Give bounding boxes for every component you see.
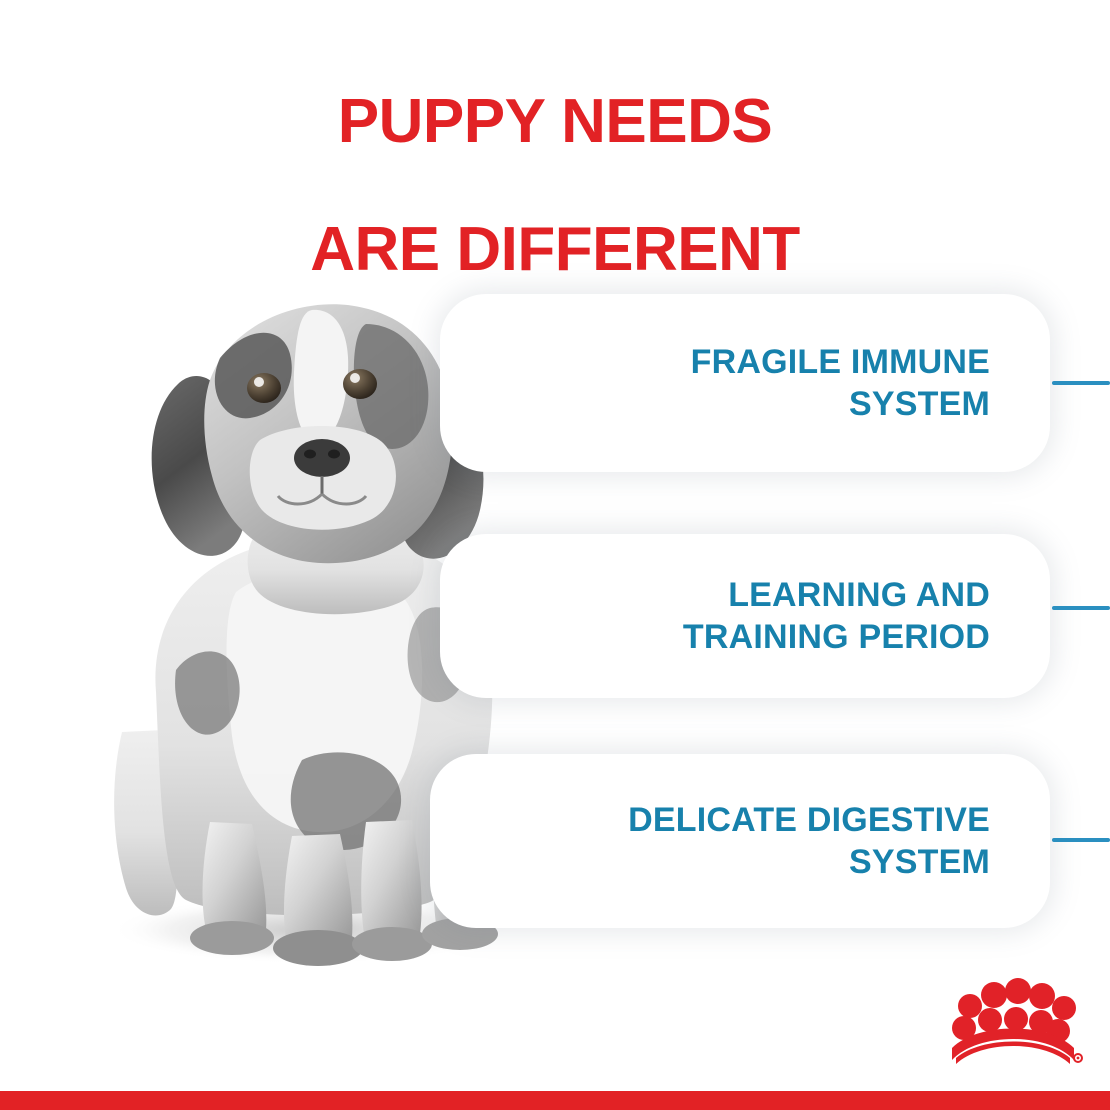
benefit-label-2: LEARNING AND TRAINING PERIOD	[683, 574, 1050, 659]
crown-dot	[981, 982, 1007, 1008]
crown-dot	[1052, 996, 1076, 1020]
puppy-eye-left	[247, 373, 281, 403]
puppy-eye-right	[343, 369, 377, 399]
puppy-nose	[294, 439, 350, 477]
benefit-label-3: DELICATE DIGESTIVE SYSTEM	[628, 799, 1050, 884]
title-line-1: PUPPY NEEDS	[0, 90, 1110, 154]
poster-canvas: PUPPY NEEDS ARE DIFFERENT	[0, 0, 1110, 1110]
benefit-card-3[interactable]: DELICATE DIGESTIVE SYSTEM	[430, 754, 1050, 928]
crown-dot	[1029, 983, 1055, 1009]
royal-canin-crown-logo	[938, 974, 1088, 1074]
crown-dot	[978, 1008, 1002, 1032]
crown-dot	[958, 994, 982, 1018]
connector-line-1	[1052, 381, 1110, 385]
benefit-card-2[interactable]: LEARNING AND TRAINING PERIOD	[440, 534, 1050, 698]
footer-red-bar	[0, 1091, 1110, 1110]
crown-dot	[1005, 978, 1031, 1004]
benefit-card-1[interactable]: FRAGILE IMMUNE SYSTEM	[440, 294, 1050, 472]
benefit-label-1: FRAGILE IMMUNE SYSTEM	[691, 341, 1050, 426]
crown-dot	[1004, 1007, 1028, 1031]
connector-line-3	[1052, 838, 1110, 842]
connector-line-2	[1052, 606, 1110, 610]
registered-trademark-icon	[1073, 1053, 1083, 1063]
